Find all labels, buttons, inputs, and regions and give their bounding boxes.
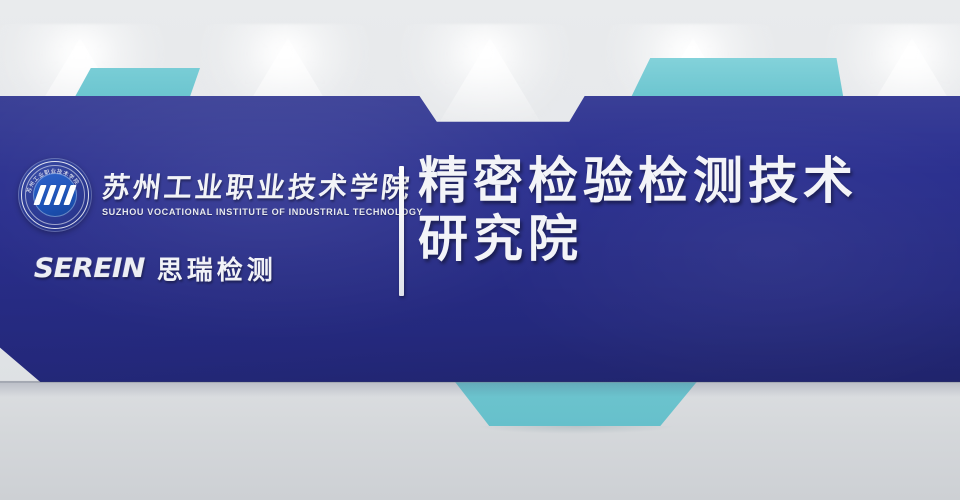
logo-block: 苏州工业职业技术学院 苏州工业职业技术学院 SUZHOU VOCATIONAL … — [18, 158, 390, 298]
signage-scene: 苏州工业职业技术学院 苏州工业职业技术学院 SUZHOU VOCATIONAL … — [0, 0, 960, 500]
partner-identity: SEREIN 思瑞检测 — [18, 250, 390, 287]
university-name-en: SUZHOU VOCATIONAL INSTITUTE OF INDUSTRIA… — [102, 207, 423, 217]
vertical-divider-bar — [399, 166, 404, 296]
university-identity: 苏州工业职业技术学院 苏州工业职业技术学院 SUZHOU VOCATIONAL … — [18, 158, 390, 232]
university-name-cn: 苏州工业职业技术学院 — [100, 173, 424, 202]
page-title: 精密检验检测技术 研究院 — [418, 152, 948, 268]
title-line-2: 研究院 — [418, 210, 948, 268]
partner-brand-cn: 思瑞检测 — [157, 250, 277, 287]
university-text: 苏州工业职业技术学院 SUZHOU VOCATIONAL INSTITUTE O… — [102, 173, 423, 216]
teal-trapezoid-bottom-center — [452, 378, 700, 426]
university-crest-icon: 苏州工业职业技术学院 — [18, 158, 92, 232]
svg-text:苏州工业职业技术学院: 苏州工业职业技术学院 — [25, 167, 82, 194]
crest-arc-text-icon: 苏州工业职业技术学院 — [18, 158, 92, 232]
title-line-1: 精密检验检测技术 — [418, 152, 858, 210]
partner-brand-en: SEREIN — [34, 253, 145, 284]
